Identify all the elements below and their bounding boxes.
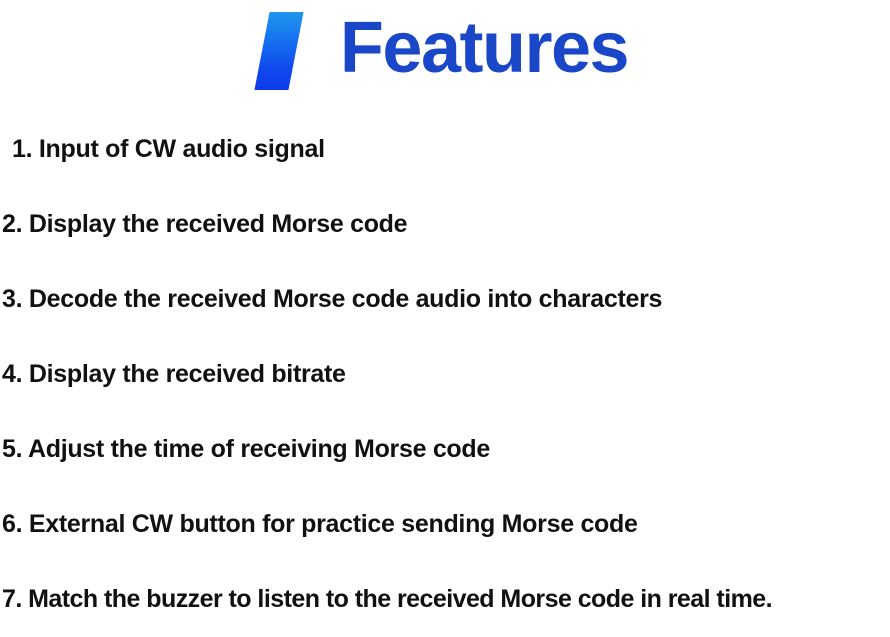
features-banner: Features 1. Input of CW audio signal 2. … [0,0,890,600]
list-item: 5. Adjust the time of receiving Morse co… [0,412,890,487]
list-item: 2. Display the received Morse code [0,187,890,262]
list-item: 3. Decode the received Morse code audio … [0,262,890,337]
feature-text: 5. Adjust the time of receiving Morse co… [2,435,490,464]
list-item: 4. Display the received bitrate [0,337,890,412]
page-header: Features [0,0,890,100]
page-title: Features [340,12,628,84]
feature-text: 2. Display the received Morse code [2,210,407,239]
feature-text: 3. Decode the received Morse code audio … [2,285,662,314]
slanted-bar-accent-icon [254,12,303,90]
feature-text: 6. External CW button for practice sendi… [2,510,638,539]
feature-text: 4. Display the received bitrate [2,360,346,389]
list-item: 1. Input of CW audio signal [0,112,890,187]
feature-text: 1. Input of CW audio signal [12,135,325,164]
feature-list: 1. Input of CW audio signal 2. Display t… [0,112,890,637]
list-item: 6. External CW button for practice sendi… [0,487,890,562]
